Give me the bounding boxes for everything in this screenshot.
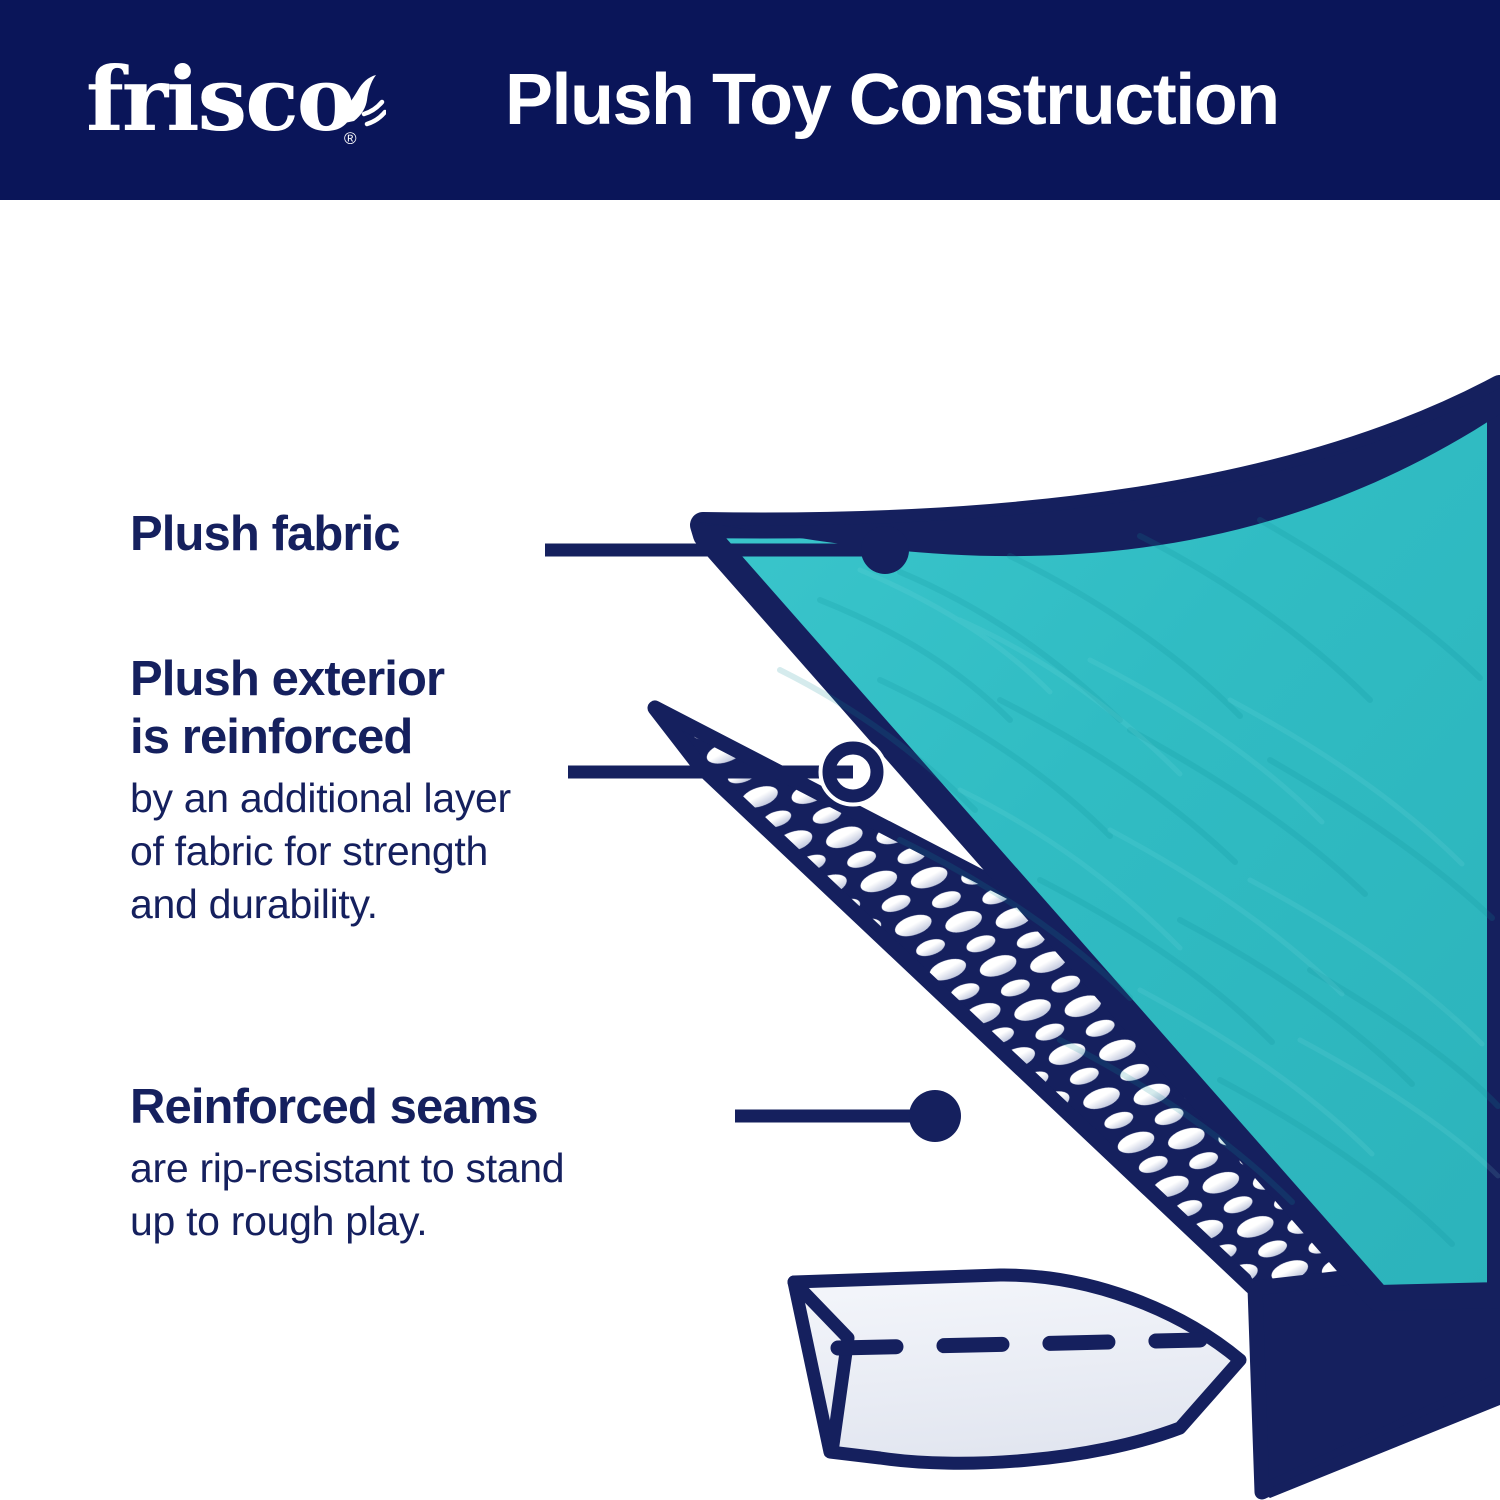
frisco-logo: frisco ® [86, 44, 386, 154]
callout-body-line-1: are rip-resistant to stand [130, 1142, 564, 1195]
callout-body-line-2: of fabric for strength [130, 825, 511, 878]
callout-body-line-1: by an additional layer [130, 772, 511, 825]
callout-heading-line-2: is reinforced [130, 708, 511, 766]
callout-heading: Reinforced seams [130, 1078, 564, 1136]
callout-heading: Plush fabric [130, 505, 400, 563]
callout-heading-line-1: Plush exterior [130, 650, 511, 708]
seam-flap-layer [794, 1275, 1240, 1463]
callout-body-line-3: and durability. [130, 878, 511, 931]
marker-reinforced-seams [909, 1090, 961, 1142]
callout-body-line-2: up to rough play. [130, 1195, 564, 1248]
registered-trademark-icon: ® [344, 130, 357, 147]
callout-plush-fabric: Plush fabric [130, 505, 400, 563]
infographic-canvas: frisco ® Plush Toy Construction [0, 0, 1500, 1500]
callout-plush-exterior-reinforced: Plush exterior is reinforced by an addit… [130, 650, 511, 931]
header-bar: frisco ® Plush Toy Construction [0, 0, 1500, 200]
marker-plush-fabric [861, 526, 909, 574]
callout-reinforced-seams: Reinforced seams are rip-resistant to st… [130, 1078, 564, 1248]
cat-tail-swoosh-icon [324, 74, 386, 132]
page-title: Plush Toy Construction [505, 50, 1279, 150]
